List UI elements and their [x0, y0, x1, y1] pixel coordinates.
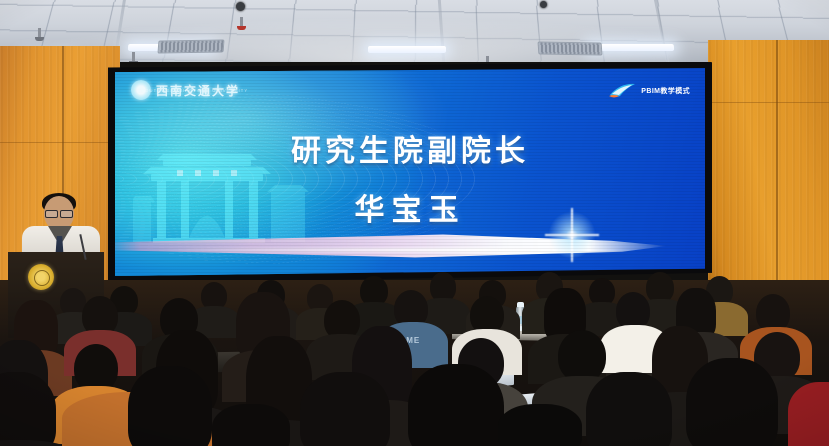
audience: FAME: [0, 0, 829, 446]
lecture-hall-scene: 西南交通大学 SOUTHWEST JIAOTONG UNIVERSITY PBI…: [0, 0, 829, 446]
